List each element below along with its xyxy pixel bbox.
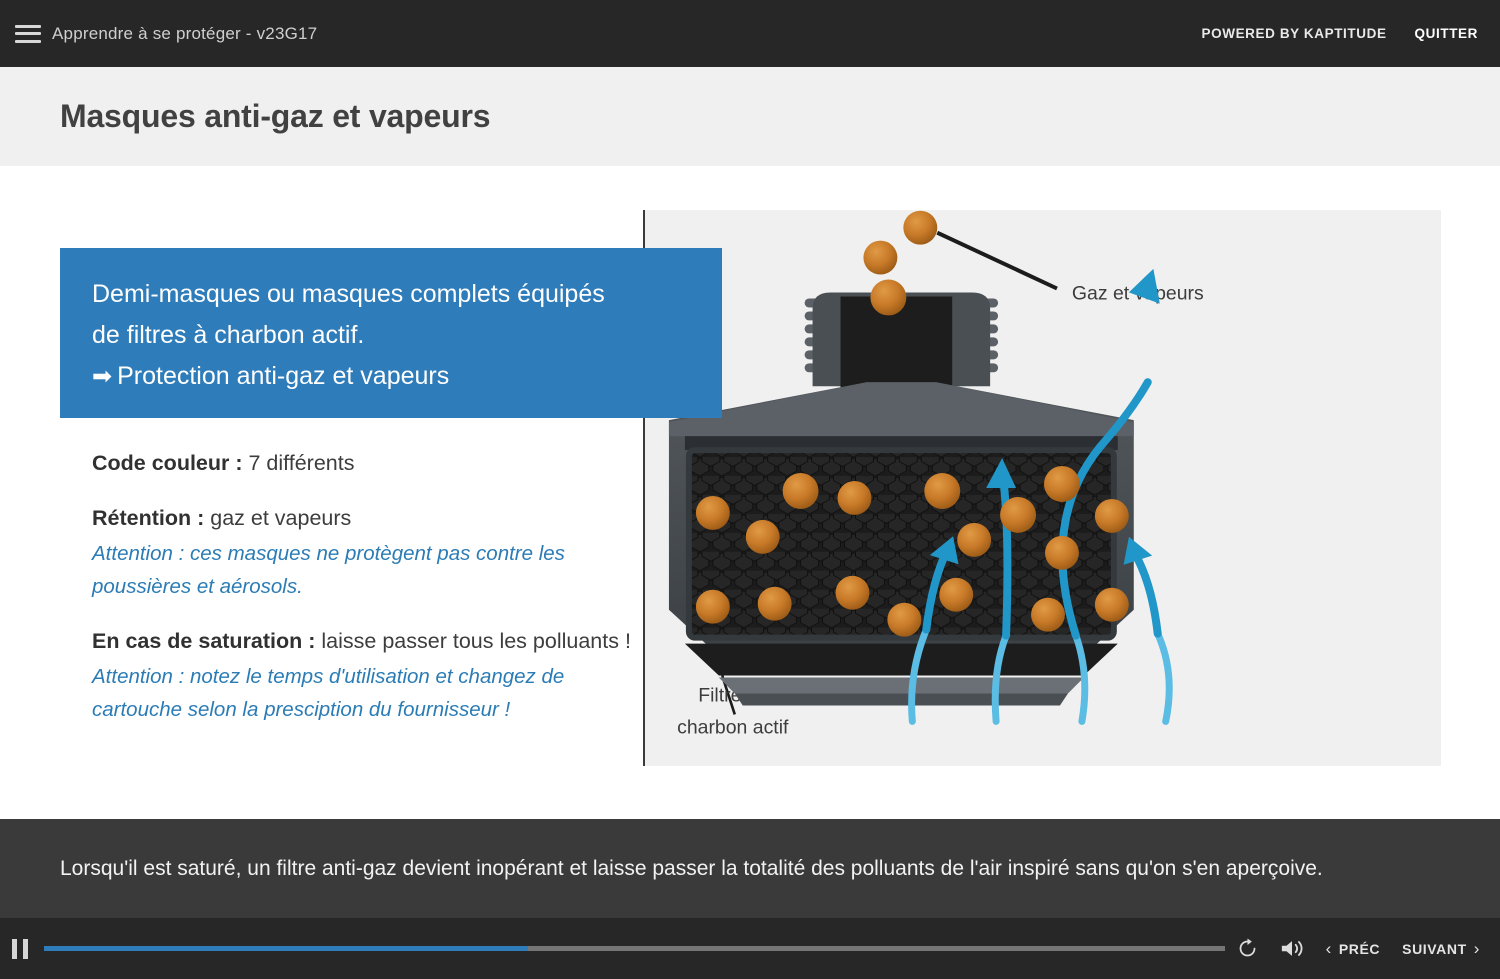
course-title: Apprendre à se protéger - v23G17 <box>52 24 317 44</box>
volume-button[interactable] <box>1280 938 1304 959</box>
next-label: SUIVANT <box>1402 941 1467 957</box>
caption-text: Lorsqu'il est saturé, un filtre anti-gaz… <box>60 854 1323 884</box>
illustration-label-filter-line2: charbon actif <box>677 716 789 738</box>
player-controls-right: ‹ PRÉC SUIVANT › <box>1237 938 1500 959</box>
prev-label: PRÉC <box>1339 941 1380 957</box>
illustration-panel: Gaz et vapeurs Filtres à charbon actif <box>643 210 1441 766</box>
hamburger-bar <box>15 25 41 28</box>
body-item-retention: Rétention : gaz et vapeurs <box>92 502 637 535</box>
page-title: Masques anti-gaz et vapeurs <box>60 98 490 135</box>
body-value-code-couleur: 7 différents <box>243 451 355 475</box>
body-label-code-couleur: Code couleur : <box>92 451 243 475</box>
callout-box: Demi-masques ou masques complets équipés… <box>60 248 722 418</box>
top-bar: Apprendre à se protéger - v23G17 POWERED… <box>0 0 1500 67</box>
body-item-saturation: En cas de saturation : laisse passer tou… <box>92 625 637 658</box>
callout-line-1: Demi-masques ou masques complets équipés <box>92 274 692 315</box>
callout-line-3-wrapper: ➡Protection anti-gaz et vapeurs <box>92 356 692 397</box>
pause-bar <box>23 939 28 959</box>
powered-by-label: POWERED BY KAPTITUDE <box>1202 26 1387 41</box>
progress-bar[interactable] <box>44 946 1225 951</box>
body-note-retention: Attention : ces masques ne protègent pas… <box>92 537 637 603</box>
body-note-saturation: Attention : notez le temps d'utilisation… <box>92 660 637 726</box>
body-value-retention: gaz et vapeurs <box>204 506 351 530</box>
player-bar: ‹ PRÉC SUIVANT › <box>0 918 1500 979</box>
pause-button[interactable] <box>12 939 28 959</box>
replay-icon <box>1237 938 1258 959</box>
gas-filter-cartridge-diagram: Gaz et vapeurs Filtres à charbon actif <box>645 210 1441 766</box>
replay-button[interactable] <box>1237 938 1258 959</box>
hamburger-bar <box>15 32 41 35</box>
arrow-right-icon: ➡ <box>92 363 117 390</box>
volume-icon <box>1280 938 1304 959</box>
next-button[interactable]: SUIVANT › <box>1402 939 1480 959</box>
hamburger-bar <box>15 40 41 43</box>
caption-bar: Lorsqu'il est saturé, un filtre anti-gaz… <box>0 819 1500 918</box>
chevron-right-icon: › <box>1474 939 1480 959</box>
body-label-saturation: En cas de saturation : <box>92 629 315 653</box>
body-value-saturation: laisse passer tous les polluants ! <box>315 629 631 653</box>
hamburger-icon[interactable] <box>15 25 41 43</box>
title-band: Masques anti-gaz et vapeurs <box>0 67 1500 166</box>
body-text-block: Code couleur : 7 différents Rétention : … <box>92 447 637 748</box>
callout-line-3: Protection anti-gaz et vapeurs <box>117 362 449 390</box>
progress-bar-fill <box>44 946 528 951</box>
body-item-code-couleur: Code couleur : 7 différents <box>92 447 637 480</box>
slide-content: Gaz et vapeurs Filtres à charbon actif <box>0 166 1500 819</box>
body-label-retention: Rétention : <box>92 506 204 530</box>
prev-button[interactable]: ‹ PRÉC <box>1326 939 1381 959</box>
callout-line-2: de filtres à charbon actif. <box>92 315 692 356</box>
quit-button[interactable]: QUITTER <box>1415 26 1478 41</box>
top-bar-right: POWERED BY KAPTITUDE QUITTER <box>1202 26 1500 41</box>
pause-bar <box>12 939 17 959</box>
elearning-slide-page: Apprendre à se protéger - v23G17 POWERED… <box>0 0 1500 979</box>
chevron-left-icon: ‹ <box>1326 939 1332 959</box>
